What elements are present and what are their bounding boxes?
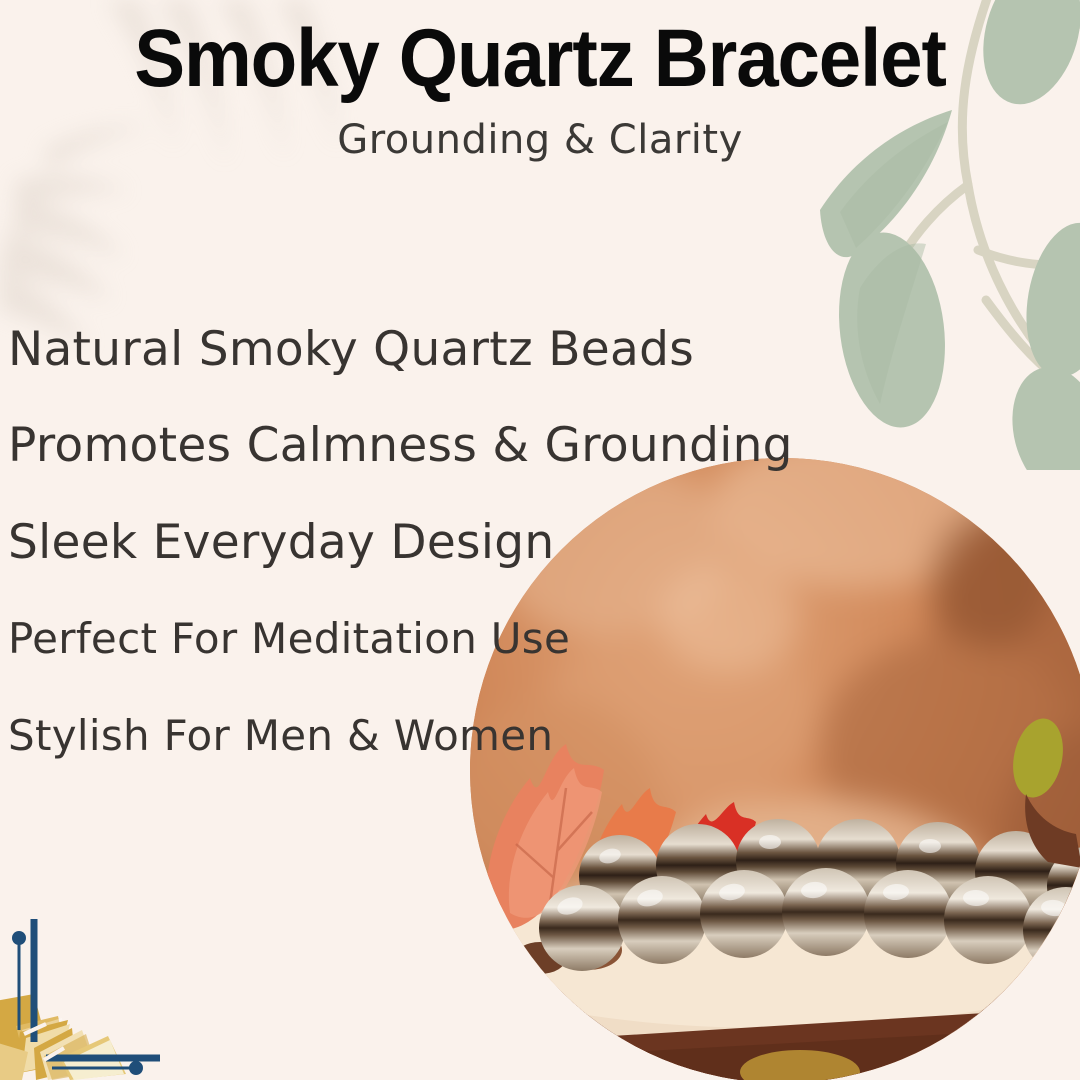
feature-item: Promotes Calmness & Grounding <box>8 422 728 469</box>
ornament-dot <box>129 1061 143 1075</box>
corner-ornament-decoration <box>0 890 230 1080</box>
infographic-canvas: Smoky Quartz Bracelet Grounding & Clarit… <box>0 0 1080 1080</box>
page-title: Smoky Quartz Bracelet <box>38 18 1042 100</box>
feature-list: Natural Smoky Quartz Beads Promotes Calm… <box>8 326 728 757</box>
feature-item: Perfect For Meditation Use <box>8 618 728 660</box>
page-subtitle: Grounding & Clarity <box>0 116 1080 164</box>
ornament-dot <box>12 931 26 945</box>
feature-item: Natural Smoky Quartz Beads <box>8 326 728 373</box>
feature-item: Sleek Everyday Design <box>8 519 728 566</box>
feature-item: Stylish For Men & Women <box>8 715 728 757</box>
